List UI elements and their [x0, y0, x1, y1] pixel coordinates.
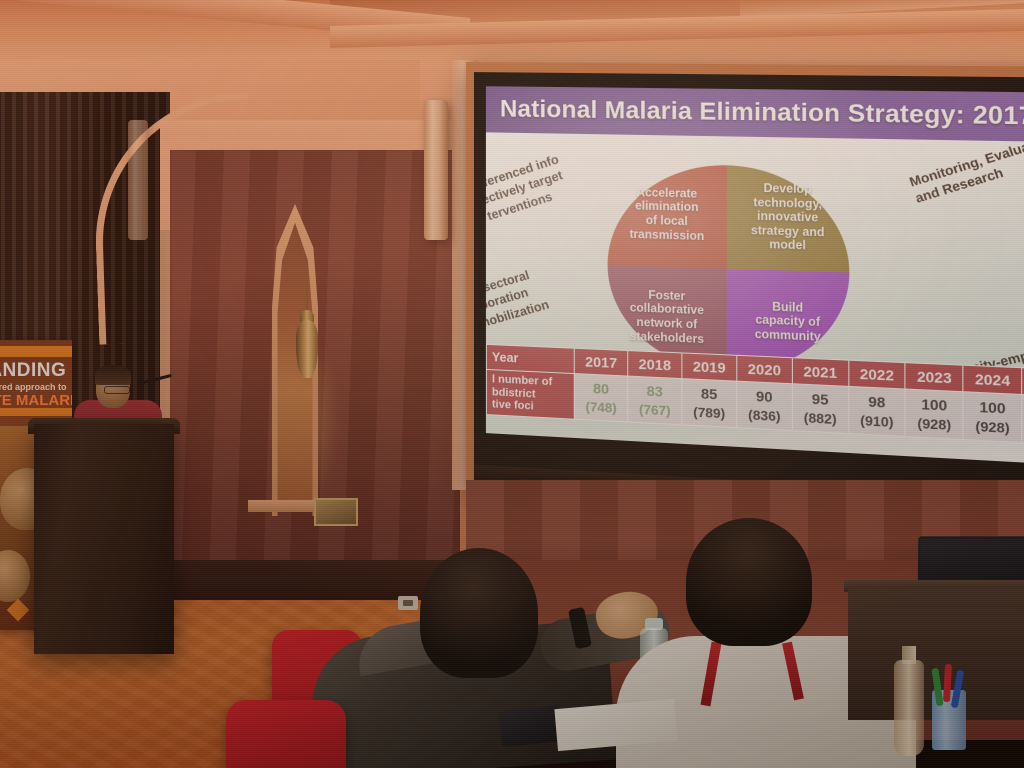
- table-cell-active-foci: 83(767): [628, 376, 682, 425]
- slide-body: eferenced info ectively target terventio…: [486, 132, 1024, 464]
- lectern-podium: ANANTARA SIAM BANGKOK HOTEL: [34, 424, 174, 654]
- banner-logo: [7, 599, 30, 622]
- table-cell-active-foci: 85(789): [682, 379, 737, 428]
- wall-outlet: [398, 596, 418, 610]
- slide-title: National Malaria Elimination Strategy: 2…: [486, 95, 1024, 133]
- table-cell-active-foci: 98(910): [848, 386, 905, 436]
- conference-room-photo: National Malaria Elimination Strategy: 2…: [0, 0, 1024, 768]
- niche-interior: [255, 210, 335, 510]
- banner-accent-bar-bottom: [0, 408, 72, 416]
- table-rowheader-active-foci: l number ofbdistricttive foci: [486, 370, 574, 420]
- table-cell-active-foci: 100(928): [963, 392, 1022, 443]
- strategy-pie-diagram: Accelerate elimination of local transmis…: [608, 163, 850, 378]
- table-header-year-cell: 2024: [963, 365, 1022, 394]
- table-header-year-cell: 2022: [848, 360, 905, 389]
- bell-body: [296, 320, 318, 378]
- banner-tagline: NATE MALARIA: [0, 392, 72, 409]
- table-header-year-cell: 2021: [792, 358, 848, 387]
- table-cell-active-foci: 95(882): [792, 384, 848, 434]
- attendee-one-head: [420, 548, 538, 678]
- table-cell-active-foci: 90(836): [737, 381, 793, 430]
- corner-label-bottom-left: lti-sectoral aboration mobilization: [486, 264, 551, 331]
- presentation-slide: National Malaria Elimination Strategy: 2…: [486, 86, 1024, 464]
- screen-bezel: National Malaria Elimination Strategy: 2…: [474, 72, 1024, 499]
- table-header-year-cell: 2020: [737, 355, 793, 383]
- pie-quadrant-accelerate-elimination: Accelerate elimination of local transmis…: [608, 163, 727, 269]
- projection-screen: National Malaria Elimination Strategy: 2…: [466, 62, 1024, 529]
- active-foci-table: Year 2017201820192020202120222023202420 …: [486, 344, 1024, 445]
- pie-quadrant-develop-technology: Develop technology, innovative strategy …: [727, 165, 850, 272]
- framed-artwork: [314, 498, 358, 526]
- wall-speaker-secondary: [128, 120, 148, 240]
- banner-accent-bar-top: [0, 346, 72, 357]
- table-header-year-cell: 2023: [905, 363, 963, 392]
- table-cell-active-foci: 100(928): [905, 389, 963, 439]
- banner-face-infant: [0, 550, 30, 602]
- corner-label-top-left: eferenced info ectively target terventio…: [486, 151, 572, 224]
- corner-label-top-right: Monitoring, Evaluation, and Research: [907, 129, 1024, 207]
- wall-speaker: [424, 100, 448, 240]
- presenter-hair: [95, 365, 131, 385]
- banner-headline: MANDING: [0, 360, 66, 382]
- attendee-two-head: [686, 518, 812, 646]
- banner-subline: -centered approach to: [0, 382, 67, 392]
- table-header-year-cell: 2018: [628, 351, 682, 379]
- ornate-wall-niche: [255, 210, 335, 510]
- hanging-brass-bell-ornament: [296, 320, 318, 406]
- table-header-year-cell: 2017: [575, 348, 628, 376]
- presenter-glasses: [104, 386, 130, 394]
- glass-bottle: [894, 660, 924, 756]
- table-cell-active-foci: 80(748): [575, 374, 628, 422]
- red-chair-foreground: [226, 700, 346, 768]
- table-header-year-cell: 2019: [682, 353, 737, 381]
